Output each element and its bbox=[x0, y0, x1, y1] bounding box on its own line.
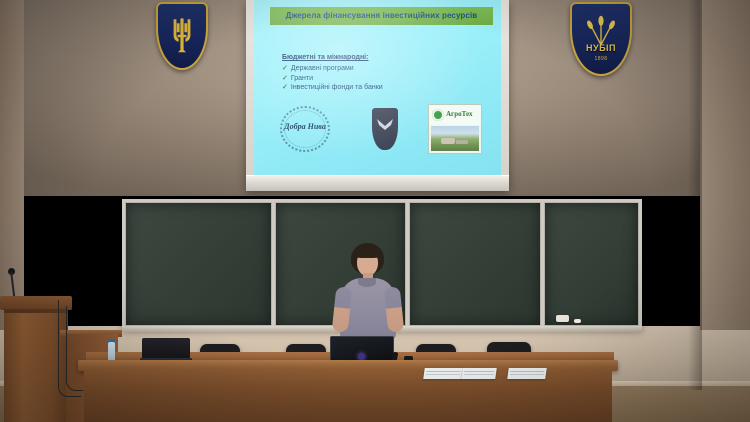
nubip-emblem: НУБІП 1898 bbox=[570, 2, 632, 76]
bullet-text: Інвестиційні фонди та банки bbox=[291, 84, 383, 91]
nubip-year: 1898 bbox=[570, 56, 632, 62]
paper-sheet bbox=[423, 368, 463, 379]
slide-lead-text: Бюджетні та міжнародні: bbox=[282, 54, 368, 61]
collar bbox=[358, 278, 376, 287]
paper-sheet bbox=[461, 368, 497, 379]
bullet-text: Державні програми bbox=[291, 65, 354, 72]
agrotech-label: АгроТех bbox=[446, 110, 473, 118]
screen-bottom-rail bbox=[246, 175, 509, 191]
slide-title-banner: Джерела фінансування інвестиційних ресур… bbox=[270, 7, 493, 25]
projected-slide: Джерела фінансування інвестиційних ресур… bbox=[254, 0, 501, 175]
bird-mark-icon bbox=[376, 117, 394, 133]
chalkboard-panel-3 bbox=[409, 202, 540, 326]
hair-fringe bbox=[353, 247, 382, 258]
green-circle-icon bbox=[432, 109, 444, 121]
corner-shadow bbox=[688, 0, 702, 390]
check-icon: ✓ bbox=[282, 65, 288, 72]
chalkboard-panel-1 bbox=[125, 202, 272, 326]
right-arm bbox=[384, 286, 405, 332]
chalkboard-panel-4 bbox=[544, 202, 639, 326]
check-icon: ✓ bbox=[282, 84, 288, 91]
agrotech-logo: АгроТех bbox=[428, 104, 482, 154]
dobra-nyva-label: Добра Нива bbox=[280, 122, 330, 131]
shield-emblem-logo bbox=[372, 108, 398, 150]
list-item: ✓Інвестиційні фонди та банки bbox=[282, 83, 383, 93]
ukraine-coat-of-arms-emblem bbox=[156, 2, 208, 70]
bullet-text: Гранти bbox=[291, 75, 313, 82]
paper-sheet bbox=[507, 368, 547, 379]
slide-logo-row: Добра Нива АгроТех bbox=[268, 104, 488, 156]
tryzub-icon bbox=[167, 15, 197, 55]
slide-bullet-list: ✓Державні програми ✓Гранти ✓Інвестиційні… bbox=[282, 64, 383, 93]
agrotech-header: АгроТех bbox=[429, 105, 481, 125]
slide-title-text: Джерела фінансування інвестиційних ресур… bbox=[274, 10, 489, 21]
list-item: ✓Державні програми bbox=[282, 64, 383, 74]
board-eraser bbox=[556, 315, 569, 322]
check-icon: ✓ bbox=[282, 75, 288, 82]
projection-screen-frame: Джерела фінансування інвестиційних ресур… bbox=[246, 0, 509, 190]
presenter bbox=[334, 243, 402, 343]
lecture-hall-photo: НУБІП 1898 Джерела фінансування інвестиц… bbox=[0, 0, 750, 422]
list-item: ✓Гранти bbox=[282, 74, 383, 84]
laptop-lid bbox=[142, 338, 190, 359]
chalk-piece bbox=[574, 319, 581, 323]
dobra-nyva-logo: Добра Нива bbox=[280, 106, 330, 152]
right-wall-column bbox=[700, 0, 750, 330]
nubip-label: НУБІП bbox=[570, 43, 632, 53]
monitor-indicator-icon bbox=[358, 353, 365, 360]
agrotech-photo bbox=[431, 126, 479, 151]
